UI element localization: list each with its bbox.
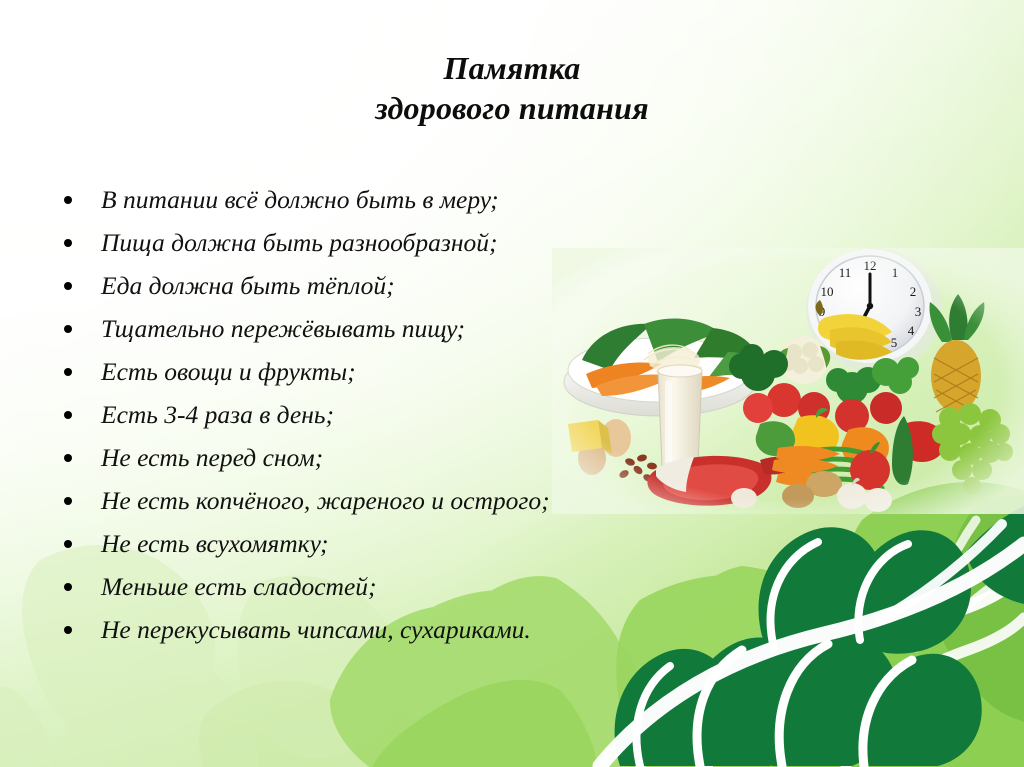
list-item: Не перекусывать чипсами, сухариками. bbox=[56, 608, 796, 651]
list-item-label: Не есть копчёного, жареного и острого; bbox=[101, 479, 550, 522]
bullet-dot-icon bbox=[64, 196, 72, 204]
list-item-label: Еда должна быть тёплой; bbox=[101, 264, 395, 307]
bullet-dot-icon bbox=[64, 239, 72, 247]
bullet-dot-icon bbox=[64, 325, 72, 333]
slide-canvas: Памятка здорового питания В питании всё … bbox=[0, 0, 1024, 767]
bullet-dot-icon bbox=[64, 540, 72, 548]
bullet-dot-icon bbox=[64, 411, 72, 419]
list-item-label: В питании всё должно быть в меру; bbox=[101, 178, 499, 221]
list-item-label: Пища должна быть разнообразной; bbox=[101, 221, 497, 264]
list-item-label: Не перекусывать чипсами, сухариками. bbox=[101, 608, 531, 651]
bullet-dot-icon bbox=[64, 626, 72, 634]
list-item: Не есть всухомятку; bbox=[56, 522, 796, 565]
bullet-dot-icon bbox=[64, 454, 72, 462]
bullet-dot-icon bbox=[64, 583, 72, 591]
bullet-dot-icon bbox=[64, 368, 72, 376]
list-item-label: Меньше есть сладостей; bbox=[101, 565, 377, 608]
list-item-label: Не есть перед сном; bbox=[101, 436, 323, 479]
title-line-1: Памятка bbox=[443, 50, 580, 86]
list-item-label: Есть 3-4 раза в день; bbox=[101, 393, 334, 436]
list-item-label: Тщательно пережёвывать пищу; bbox=[101, 307, 465, 350]
list-item-label: Не есть всухомятку; bbox=[101, 522, 328, 565]
list-item: Меньше есть сладостей; bbox=[56, 565, 796, 608]
bullet-dot-icon bbox=[64, 497, 72, 505]
bullet-dot-icon bbox=[64, 282, 72, 290]
title-line-2: здорового питания bbox=[0, 88, 1024, 128]
healthy-food-photo: 12 1 2 3 4 5 6 7 8 9 10 11 bbox=[552, 248, 1024, 514]
list-item-label: Есть овощи и фрукты; bbox=[101, 350, 356, 393]
list-item: В питании всё должно быть в меру; bbox=[56, 178, 796, 221]
slide-title: Памятка здорового питания bbox=[0, 48, 1024, 128]
